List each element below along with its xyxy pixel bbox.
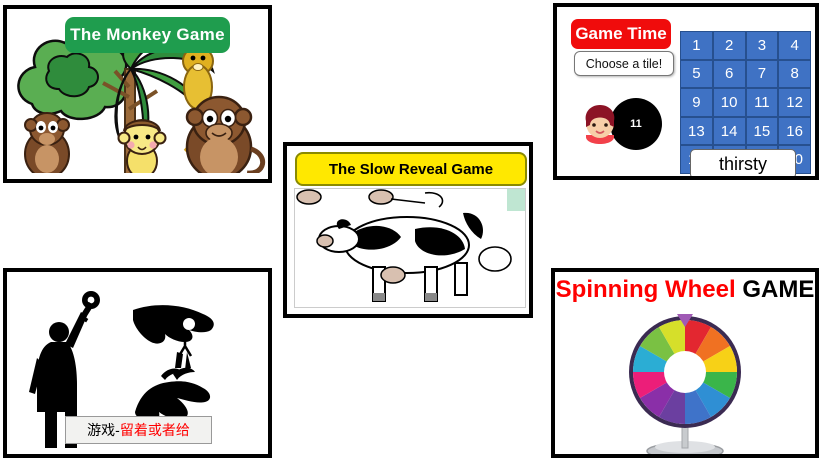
game-tile[interactable]: 14 xyxy=(713,117,746,146)
game-tile[interactable]: 4 xyxy=(778,31,811,60)
monkey-game-title: The Monkey Game xyxy=(70,25,225,45)
slow-reveal-tile-grid[interactable] xyxy=(294,188,526,308)
game-tile[interactable]: 7 xyxy=(746,60,779,89)
game-tile[interactable]: 5 xyxy=(680,60,713,89)
game-tile[interactable]: 3 xyxy=(746,31,779,60)
game-tile[interactable]: 1 xyxy=(680,31,713,60)
keep-or-give-panel[interactable]: Keep or Give GAME xyxy=(3,268,272,458)
revealed-word-box: thirsty xyxy=(690,149,796,179)
caption-chinese-black: 游戏- xyxy=(87,420,120,440)
game-tile[interactable]: 9 xyxy=(680,88,713,117)
game-tile[interactable]: 6 xyxy=(713,60,746,89)
game-time-panel[interactable]: 1 2 3 4 5 6 7 8 9 10 11 12 13 14 15 16 1… xyxy=(553,3,819,180)
keep-or-give-chinese-caption: 游戏-留着或者给 xyxy=(65,416,212,444)
game-tile[interactable]: 8 xyxy=(778,60,811,89)
choose-a-tile-label: Choose a tile! xyxy=(586,57,662,71)
game-tile[interactable]: 11 xyxy=(746,88,779,117)
spinning-wheel-title-black: GAME xyxy=(736,276,815,303)
wheel-svg[interactable] xyxy=(555,308,815,458)
spinning-wheel-title-red: Spinning Wheel xyxy=(556,276,736,303)
spinning-wheel-graphic[interactable] xyxy=(555,308,815,458)
spinning-wheel-title: Spinning Wheel GAME xyxy=(555,276,815,304)
game-tile[interactable]: 16 xyxy=(778,117,811,146)
monkey-game-panel[interactable]: The Monkey Game xyxy=(3,5,272,183)
game-tile[interactable]: 2 xyxy=(713,31,746,60)
slow-reveal-title: The Slow Reveal Game xyxy=(329,161,493,178)
game-time-title-banner: Game Time xyxy=(571,19,671,49)
caption-chinese-red: 留着或者给 xyxy=(120,420,190,440)
slow-reveal-game-panel[interactable]: The Slow Reveal Game xyxy=(283,142,533,318)
game-tile[interactable]: 10 xyxy=(713,88,746,117)
game-tile[interactable]: 13 xyxy=(680,117,713,146)
game-time-title: Game Time xyxy=(575,24,666,44)
speech-bubble-number: 11 xyxy=(630,118,642,130)
monkey-game-title-banner: The Monkey Game xyxy=(65,17,230,53)
game-tile[interactable]: 15 xyxy=(746,117,779,146)
choose-a-tile-box: Choose a tile! xyxy=(574,51,674,76)
game-tile[interactable]: 12 xyxy=(778,88,811,117)
girl-face-icon xyxy=(580,101,620,145)
avatar xyxy=(580,101,620,145)
revealed-word: thirsty xyxy=(719,154,767,175)
slow-reveal-title-banner: The Slow Reveal Game xyxy=(295,152,527,186)
hidden-cow-image xyxy=(295,189,525,307)
spinning-wheel-panel[interactable]: Spinning Wheel GAME xyxy=(551,268,819,458)
